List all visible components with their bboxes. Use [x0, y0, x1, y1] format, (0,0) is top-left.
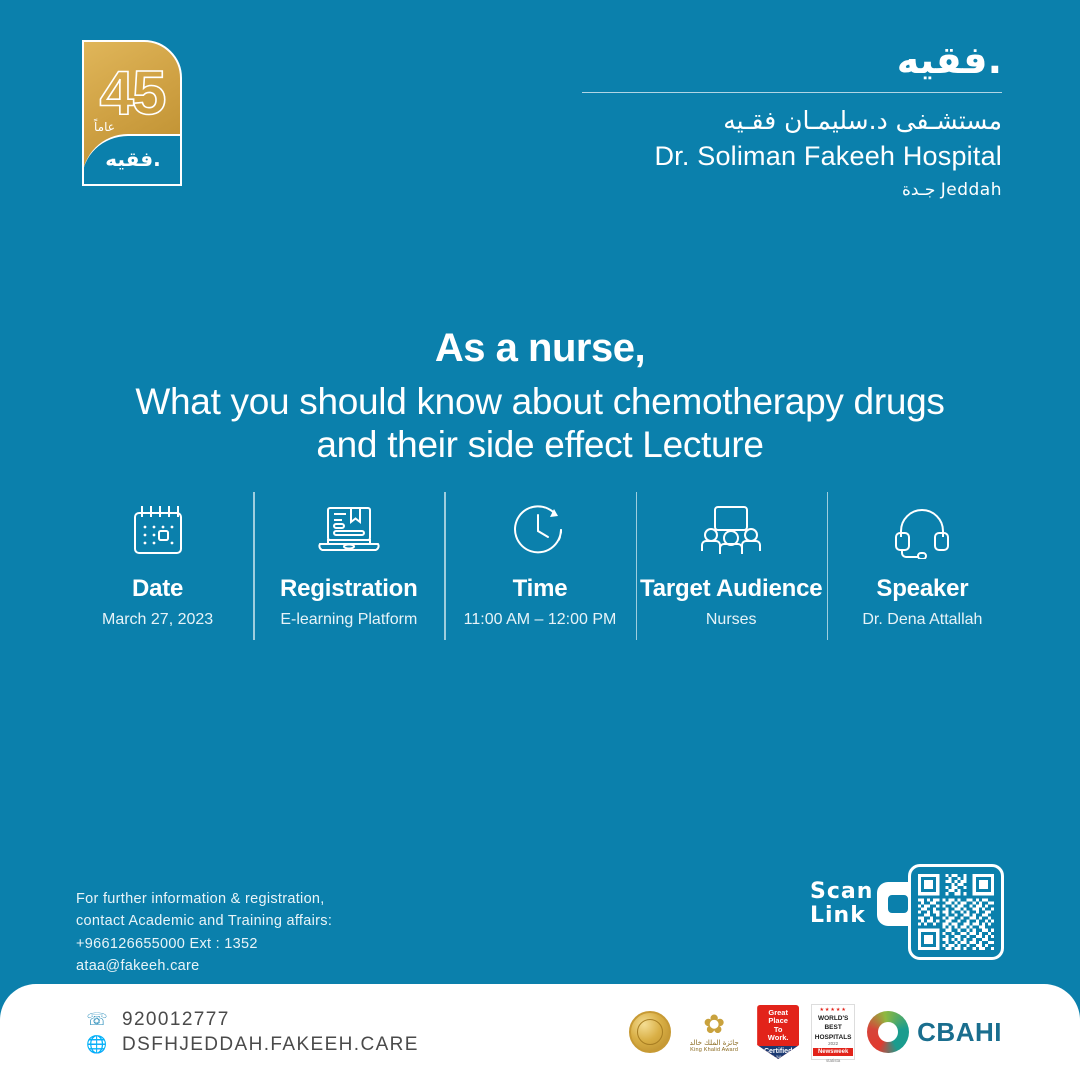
- king-khalid-award-badge: ✿ جائزة الملك خالد King Khalid Award: [683, 1012, 745, 1053]
- laptop-elearning-icon: [316, 500, 382, 562]
- event-details-row: Date March 27, 2023 Registration E-learn…: [62, 492, 1018, 642]
- detail-cell-registration: Registration E-learning Platform: [253, 492, 444, 642]
- title-line-3: and their side effect Lecture: [0, 423, 1080, 466]
- cbahi-accreditation-badge: CBAHI: [867, 1011, 1002, 1053]
- wbh-line-1: WORLD'S: [818, 1015, 848, 1022]
- hospital-city: جـدة Jeddah: [582, 180, 1002, 200]
- detail-cell-target-audience: Target Audience Nurses: [636, 492, 827, 642]
- detail-cell-date: Date March 27, 2023: [62, 492, 253, 642]
- gptw-line-4: Work.: [768, 1034, 789, 1042]
- detail-label-time: Time: [513, 575, 568, 603]
- qr-code[interactable]: [908, 864, 1004, 960]
- scan-label-line-2: Link: [810, 904, 873, 928]
- headset-icon: [892, 500, 952, 562]
- brand-logo-arabic: فقيه.: [582, 40, 1002, 82]
- detail-cell-time: Time 11:00 AM – 12:00 PM: [444, 492, 635, 642]
- footer-contact-block: ☏ 920012777 🌐 DSFHJEDDAH.FAKEEH.CARE: [84, 1006, 419, 1059]
- footer-phone-number: 920012777: [122, 1009, 230, 1031]
- detail-value-date: March 27, 2023: [102, 611, 213, 629]
- wbh-source: Newsweek: [813, 1048, 853, 1056]
- hospital-brand-block: فقيه. مستشـفى د.سليمـان فقـيه Dr. Solima…: [582, 40, 1002, 200]
- further-info-email: ataa@fakeeh.care: [76, 955, 496, 977]
- detail-label-speaker: Speaker: [876, 575, 968, 603]
- detail-label-registration: Registration: [280, 575, 418, 603]
- anniversary-arabic-years: عاماً: [94, 120, 115, 134]
- cbahi-label: CBAHI: [917, 1017, 1002, 1048]
- footer-phone-row[interactable]: ☏ 920012777: [84, 1009, 419, 1031]
- hospital-name-english: Dr. Soliman Fakeeh Hospital: [582, 139, 1002, 174]
- title-line-1: As a nurse,: [0, 325, 1080, 371]
- further-information-block: For further information & registration, …: [76, 888, 496, 978]
- anniversary-brand-footer: فقيه.: [82, 134, 182, 186]
- detail-cell-speaker: Speaker Dr. Dena Attallah: [827, 492, 1018, 642]
- detail-value-registration: E-learning Platform: [280, 611, 417, 629]
- worlds-best-hospitals-badge: ★★★★★ WORLD'S BEST HOSPITALS 2022 Newswe…: [811, 1004, 855, 1060]
- detail-label-date: Date: [132, 575, 183, 603]
- great-place-to-work-badge: Great Place To Work. Certified JUL 2022-…: [757, 1005, 799, 1059]
- footer-website-url: DSFHJEDDAH.FAKEEH.CARE: [122, 1034, 419, 1056]
- king-khalid-english: King Khalid Award: [690, 1047, 738, 1053]
- title-line-2: What you should know about chemotherapy …: [0, 380, 1080, 423]
- gptw-shield-icon: Great Place To Work. Certified JUL 2022-…: [757, 1005, 799, 1059]
- footer-bar: ☏ 920012777 🌐 DSFHJEDDAH.FAKEEH.CARE ✿ ج…: [0, 984, 1080, 1080]
- footer-website-row[interactable]: 🌐 DSFHJEDDAH.FAKEEH.CARE: [84, 1034, 419, 1056]
- anniversary-brand-arabic: فقيه.: [105, 147, 160, 175]
- detail-label-target-audience: Target Audience: [640, 575, 822, 603]
- gold-seal-award-badge: [629, 1011, 671, 1053]
- gold-seal-icon: [629, 1011, 671, 1053]
- wbh-card-icon: ★★★★★ WORLD'S BEST HOSPITALS 2022 Newswe…: [811, 1004, 855, 1060]
- further-info-line-1: For further information & registration,: [76, 888, 496, 910]
- globe-icon: 🌐: [84, 1035, 110, 1055]
- scan-label-line-1: Scan: [810, 880, 873, 904]
- clock-icon: [510, 500, 570, 562]
- qr-code-image: [918, 874, 994, 950]
- detail-value-speaker: Dr. Dena Attallah: [862, 611, 982, 629]
- footer-accreditation-badges: ✿ جائزة الملك خالد King Khalid Award Gre…: [629, 1004, 1002, 1060]
- further-info-phone: +966126655000 Ext : 1352: [76, 933, 496, 955]
- further-info-line-2: contact Academic and Training affairs:: [76, 910, 496, 932]
- detail-value-time: 11:00 AM – 12:00 PM: [464, 611, 617, 629]
- king-khalid-mark-icon: ✿: [703, 1012, 725, 1038]
- brand-divider: [582, 92, 1002, 94]
- king-khalid-arabic: جائزة الملك خالد: [690, 1039, 739, 1047]
- wbh-line-2: BEST: [824, 1024, 841, 1031]
- wbh-year: 2022: [828, 1041, 838, 1046]
- wbh-line-3: HOSPITALS: [815, 1034, 852, 1041]
- wbh-stars: ★★★★★: [819, 1007, 846, 1013]
- calendar-icon: [130, 500, 186, 562]
- wbh-statista: statista: [826, 1058, 840, 1063]
- gptw-certified-block: Certified JUL 2022-JUL 2023 KSA: [757, 1046, 799, 1064]
- gptw-certified-period: JUL 2022-JUL 2023 KSA: [757, 1055, 799, 1064]
- anniversary-45-logo: 45 عاماً فقيه.: [82, 40, 182, 186]
- detail-value-target-audience: Nurses: [706, 611, 757, 629]
- audience-group-icon: [698, 500, 764, 562]
- cbahi-ring-icon: [867, 1011, 909, 1053]
- hospital-name-arabic: مستشـفى د.سليمـان فقـيه: [582, 105, 1002, 136]
- scan-link-label: Scan Link: [810, 880, 873, 928]
- header: 45 عاماً فقيه. فقيه. مستشـفى د.سليمـان ف…: [0, 0, 1080, 230]
- phone-icon: ☏: [84, 1010, 110, 1030]
- lecture-title-block: As a nurse, What you should know about c…: [0, 325, 1080, 467]
